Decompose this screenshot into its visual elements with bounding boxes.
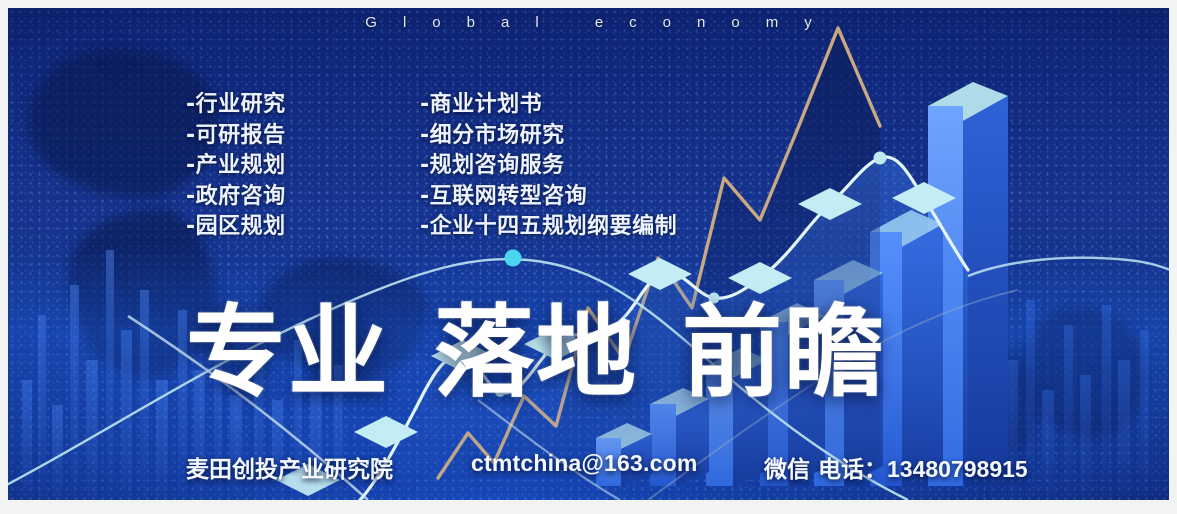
headline-word-3: 前瞻 [682,303,886,403]
service-item: -可研报告 [186,121,286,152]
service-item: -政府咨询 [186,182,286,213]
promotional-banner: Global economy -行业研究 -可研报告 -产业规划 -政府咨询 -… [8,8,1169,500]
service-item: -产业规划 [186,151,286,182]
service-item: -园区规划 [186,212,286,243]
service-item: -商业计划书 [420,90,677,121]
services-list-left: -行业研究 -可研报告 -产业规划 -政府咨询 -园区规划 [186,90,286,243]
service-item: -互联网转型咨询 [420,182,677,213]
service-item: -企业十四五规划纲要编制 [420,212,677,243]
vignette-overlay [8,8,1169,500]
contact-phone: 微信 电话：13480798915 [764,450,1028,484]
headline-word-1: 专业 [186,303,390,403]
contact-phone-number: 13480798915 [887,456,1028,482]
company-name: 麦田创投产业研究院 [186,450,393,484]
contact-email[interactable]: ctmtchina@163.com [471,450,698,477]
service-item: -行业研究 [186,90,286,121]
page-title: 专业落地前瞻 [186,303,886,403]
kicker-text: Global economy [8,14,1169,31]
headline-word-2: 落地 [434,303,638,403]
service-item: -细分市场研究 [420,121,677,152]
screenshot-root: Global economy -行业研究 -可研报告 -产业规划 -政府咨询 -… [0,0,1177,514]
service-item: -规划咨询服务 [420,151,677,182]
contact-phone-label: 微信 电话： [764,457,887,483]
services-list-right: -商业计划书 -细分市场研究 -规划咨询服务 -互联网转型咨询 -企业十四五规划… [420,90,677,243]
contact-bar: 麦田创投产业研究院 ctmtchina@163.com 微信 电话：134807… [186,450,1066,480]
